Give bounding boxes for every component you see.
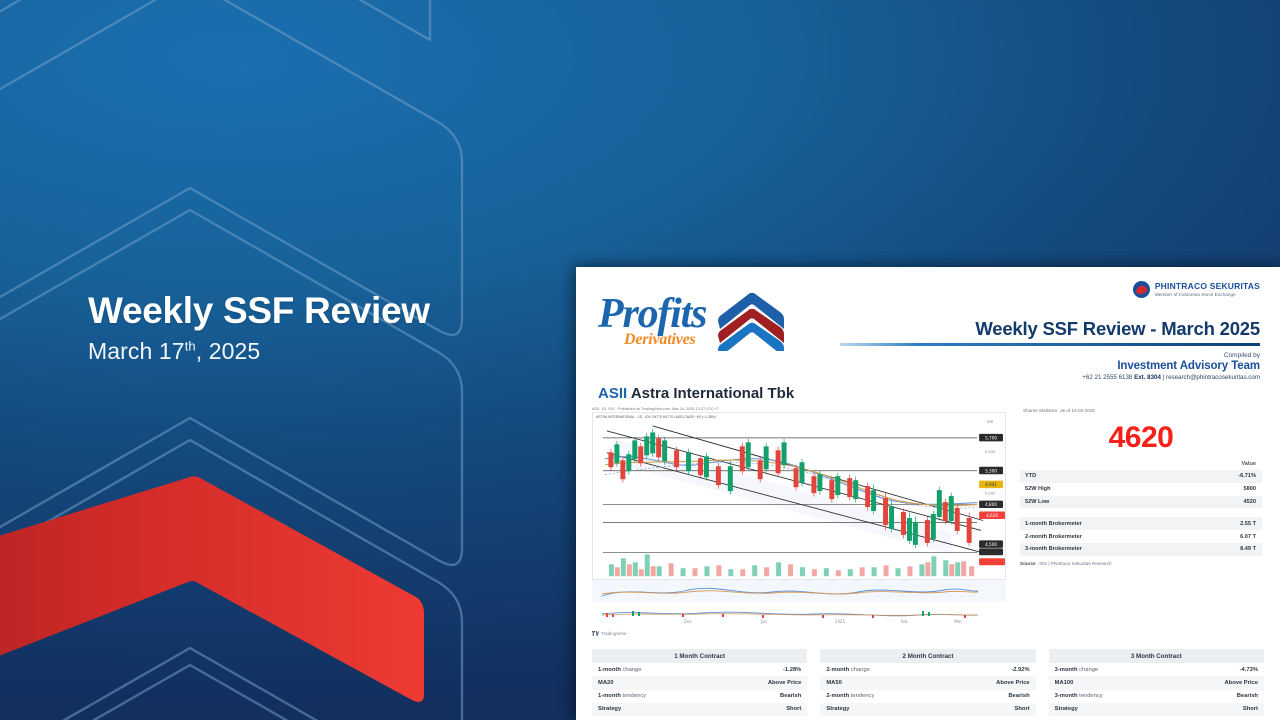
contact-phone: +62 21 2555 6138 xyxy=(1082,374,1132,381)
table-row: 1-month Brokermeter 2.55 T xyxy=(1020,517,1262,530)
svg-text:4,500: 4,500 xyxy=(985,542,997,547)
profits-chevron-icon xyxy=(716,289,788,351)
contract-value: -4.73% xyxy=(1171,663,1264,676)
contact-line: +62 21 2555 6138 Ext. 8304 | research@ph… xyxy=(816,374,1260,381)
stats-heading: Shares Statisticsas of 14-03-2025 xyxy=(1020,407,1262,414)
table-row: 52W High 5800 xyxy=(1020,483,1262,496)
contract-title: 2 Month Contract xyxy=(820,649,1035,663)
contract-table: 3-month change -4.73% MA100 Above Price … xyxy=(1049,663,1264,716)
subtitle-year: , 2025 xyxy=(196,338,261,364)
document-body: ASII, 1D, IDX · Published on TradingView… xyxy=(592,407,1264,636)
phintraco-sekuritas-logo: PHINTRACO SEKURITAS Member of Indonesia … xyxy=(1133,281,1260,298)
svg-text:4,800: 4,800 xyxy=(985,502,997,507)
table-row: MA100 Above Price xyxy=(1049,676,1264,689)
svg-text:2025: 2025 xyxy=(835,619,846,624)
document-title: Weekly SSF Review - March 2025 xyxy=(816,318,1260,340)
contract-key: MA20 xyxy=(592,676,714,689)
source-label: Source xyxy=(1020,561,1036,566)
contract-title: 1 Month Contract xyxy=(592,649,807,663)
table-row: 3-month Brokermeter 8.49 T xyxy=(1020,543,1262,556)
contract-key: Strategy xyxy=(1049,703,1171,716)
tradingview-label: TradingView xyxy=(601,631,626,636)
source-line: Source : IDX | Phintraco Sekuritas Resea… xyxy=(1020,561,1262,566)
chart-ohlc-text: ASTRA INTERNATIONAL · 1D · IDX O4770 H47… xyxy=(596,415,716,419)
contract-key: 2-month tendency xyxy=(820,690,942,703)
table-row: Strategy Short xyxy=(592,703,807,716)
oscillator-panels-svg[interactable]: Dec Jan 2025 Feb Mar xyxy=(592,580,1006,624)
stat-value: -6.71% xyxy=(1155,470,1262,483)
brokermeter-label: 2-month Brokermeter xyxy=(1020,530,1193,543)
compiled-by-label: Compiled by xyxy=(816,352,1260,359)
tradingview-credit: TradingView xyxy=(592,631,1006,636)
contract-key: Strategy xyxy=(592,703,714,716)
svg-text:4,941: 4,941 xyxy=(985,482,997,487)
document-header: Profits Derivatives PHINTRACO SEKURITAS … xyxy=(592,279,1264,383)
chart-column: ASII, 1D, IDX · Published on TradingView… xyxy=(592,407,1006,636)
contract-value: Above Price xyxy=(1171,676,1264,689)
title-underline-rule xyxy=(840,343,1260,346)
table-row: MA50 Above Price xyxy=(820,676,1035,689)
contract-value: Short xyxy=(714,703,807,716)
profits-logo-text: Profits Derivatives xyxy=(598,293,706,349)
contract-key: 1-month tendency xyxy=(592,690,714,703)
contract-table: 2-month change -2.92% MA50 Above Price 2… xyxy=(820,663,1035,716)
table-row: 2-month change -2.92% xyxy=(820,663,1035,676)
contract-key: Strategy xyxy=(820,703,942,716)
contracts-row: 1 Month Contract 1-month change -1.28% M… xyxy=(592,649,1264,716)
stat-label: 52W High xyxy=(1020,483,1155,496)
contract-key: MA50 xyxy=(820,676,942,689)
table-row: Strategy Short xyxy=(1049,703,1264,716)
brokermeter-label: 3-month Brokermeter xyxy=(1020,543,1193,556)
slide-title-block: Weekly SSF Review March 17th, 2025 xyxy=(88,292,430,365)
contract-key: 3-month change xyxy=(1049,663,1171,676)
table-row: YTD -6.71% xyxy=(1020,470,1262,483)
stats-as-of: as of 14-03-2025 xyxy=(1060,408,1095,413)
stats-heading-label: Shares Statistics xyxy=(1023,408,1057,413)
table-row: MA20 Above Price xyxy=(592,676,807,689)
stats-value-header: Value xyxy=(1155,460,1262,471)
contract-value: Bearish xyxy=(714,690,807,703)
brokermeter-value: 6.07 T xyxy=(1193,530,1262,543)
svg-text:Jan: Jan xyxy=(760,619,768,624)
table-row: 2-month tendency Bearish xyxy=(820,690,1035,703)
price-chart-svg: 5,700 5,300 4,941 4,800 4,620 4,500 IDR … xyxy=(593,413,1005,580)
contract-value: Above Price xyxy=(714,676,807,689)
svg-text:Dec: Dec xyxy=(684,619,692,624)
contract-key: MA100 xyxy=(1049,676,1171,689)
svg-text:5,300: 5,300 xyxy=(985,468,997,473)
company-tagline: Member of Indonesia Stock Exchange xyxy=(1155,292,1260,297)
document-title-wrap: Weekly SSF Review - March 2025 Compiled … xyxy=(816,318,1260,381)
contract-title: 3 Month Contract xyxy=(1049,649,1264,663)
stock-name: Astra International Tbk xyxy=(631,385,794,402)
page-title: Weekly SSF Review xyxy=(88,292,430,331)
price-chart[interactable]: 5,700 5,300 4,941 4,800 4,620 4,500 IDR … xyxy=(592,412,1006,580)
contract-value: Short xyxy=(1171,703,1264,716)
contract-table: 1-month change -1.28% MA20 Above Price 1… xyxy=(592,663,807,716)
derivatives-wordmark: Derivatives xyxy=(624,331,706,349)
table-row: 52W Low 4520 xyxy=(1020,496,1262,509)
stats-table: Value YTD -6.71% 52W High 5800 52W Low 4… xyxy=(1020,460,1262,509)
stat-value: 4520 xyxy=(1155,496,1262,509)
contract-card-3-month: 3 Month Contract 3-month change -4.73% M… xyxy=(1049,649,1264,716)
stock-code: ASII xyxy=(598,385,627,402)
svg-text:5,100: 5,100 xyxy=(985,491,996,496)
svg-text:5,700: 5,700 xyxy=(985,435,997,440)
contract-value: Bearish xyxy=(943,690,1036,703)
svg-text:5,500: 5,500 xyxy=(985,449,996,454)
brokermeter-value: 8.49 T xyxy=(1193,543,1262,556)
chart-header-note: ASII, 1D, IDX · Published on TradingView… xyxy=(592,407,1006,411)
chart-ohlc-readout: ASTRA INTERNATIONAL · 1D · IDX O4770 H47… xyxy=(596,415,716,419)
table-row: 3-month tendency Bearish xyxy=(1049,690,1264,703)
brokermeter-table: 1-month Brokermeter 2.55 T 2-month Broke… xyxy=(1020,517,1262,555)
stat-value: 5800 xyxy=(1155,483,1262,496)
subtitle-month-day: March 17 xyxy=(88,338,185,364)
table-row: 3-month change -4.73% xyxy=(1049,663,1264,676)
company-name: PHINTRACO SEKURITAS xyxy=(1155,282,1260,291)
contract-value: Above Price xyxy=(943,676,1036,689)
svg-text:IDR: IDR xyxy=(987,420,994,424)
profits-derivatives-logo: Profits Derivatives xyxy=(598,287,778,359)
brokermeter-value: 2.55 T xyxy=(1193,517,1262,530)
contract-card-2-month: 2 Month Contract 2-month change -2.92% M… xyxy=(820,649,1035,716)
phintraco-logo-mark-icon xyxy=(1133,281,1150,298)
contact-email: | research@phintracosekuritas.com xyxy=(1163,374,1260,381)
stock-title: ASII Astra International Tbk xyxy=(598,385,1264,402)
source-value: : IDX | Phintraco Sekuritas Research xyxy=(1037,561,1112,566)
contact-ext: Ext. 8304 xyxy=(1134,374,1161,381)
contract-value: Short xyxy=(943,703,1036,716)
table-row: Strategy Short xyxy=(820,703,1035,716)
last-price-value: 4620 xyxy=(1020,422,1262,454)
stat-label: 52W Low xyxy=(1020,496,1155,509)
phintraco-logo-text: PHINTRACO SEKURITAS Member of Indonesia … xyxy=(1155,282,1260,296)
contract-value: Bearish xyxy=(1171,690,1264,703)
shares-statistics-panel: Shares Statisticsas of 14-03-2025 4620 V… xyxy=(1020,407,1262,636)
profits-wordmark: Profits xyxy=(598,293,706,335)
contract-key: 2-month change xyxy=(820,663,942,676)
contract-card-1-month: 1 Month Contract 1-month change -1.28% M… xyxy=(592,649,807,716)
table-row: 1-month tendency Bearish xyxy=(592,690,807,703)
report-document-card[interactable]: Profits Derivatives PHINTRACO SEKURITAS … xyxy=(576,267,1280,720)
stat-label: YTD xyxy=(1020,470,1155,483)
page-subtitle: March 17th, 2025 xyxy=(88,338,430,365)
table-row: 2-month Brokermeter 6.07 T xyxy=(1020,530,1262,543)
tradingview-icon xyxy=(592,631,599,636)
contract-key: 3-month tendency xyxy=(1049,690,1171,703)
contract-value: -1.28% xyxy=(714,663,807,676)
svg-text:4,620: 4,620 xyxy=(986,513,998,518)
contract-value: -2.92% xyxy=(943,663,1036,676)
compiled-by-team: Investment Advisory Team xyxy=(816,360,1260,372)
svg-text:Feb: Feb xyxy=(900,619,908,624)
contract-key: 1-month change xyxy=(592,663,714,676)
svg-text:Mar: Mar xyxy=(954,619,962,624)
table-row: 1-month change -1.28% xyxy=(592,663,807,676)
subtitle-ordinal: th xyxy=(185,338,196,353)
brokermeter-label: 1-month Brokermeter xyxy=(1020,517,1193,530)
